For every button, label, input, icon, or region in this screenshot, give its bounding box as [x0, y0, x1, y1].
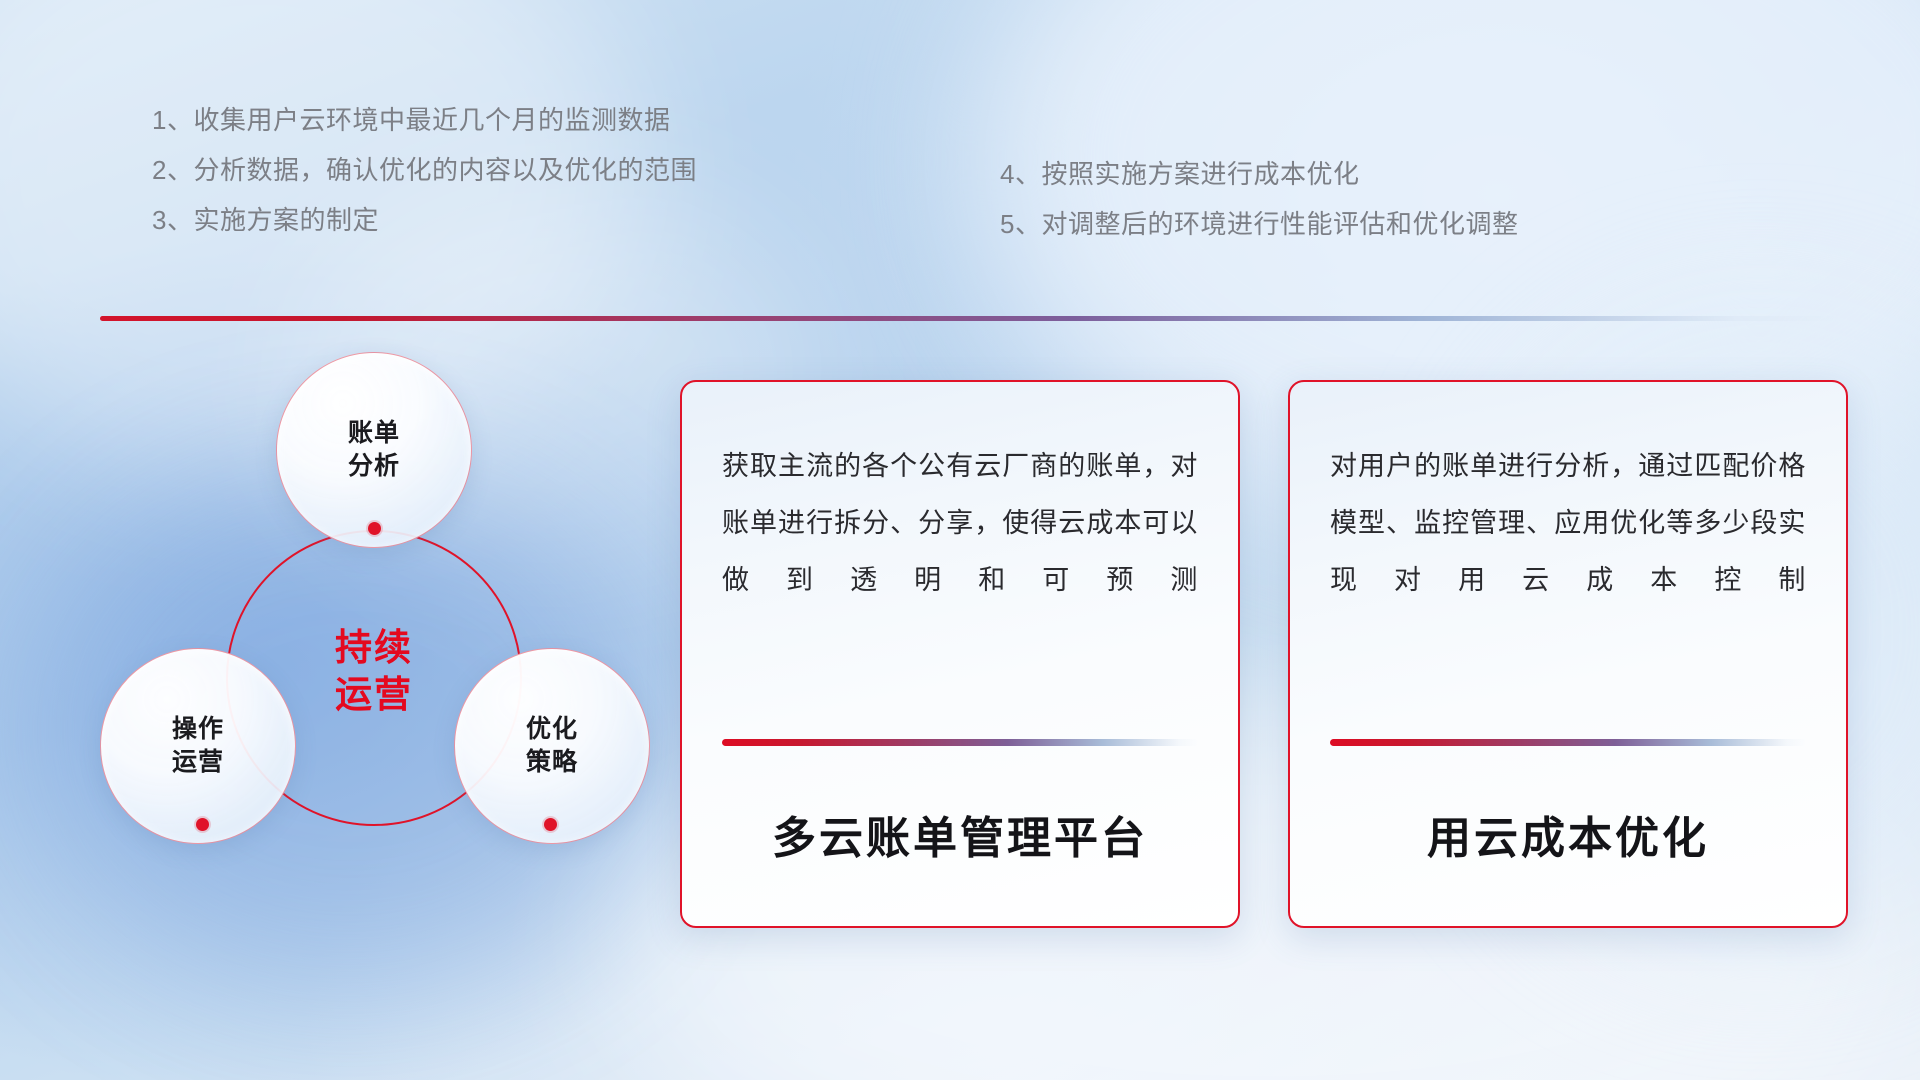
feature-card-1-title: 多云账单管理平台: [722, 802, 1198, 866]
step-item-2: 2、分析数据，确认优化的内容以及优化的范围: [152, 146, 697, 196]
section-divider: [100, 316, 1840, 321]
feature-card-cost-optimization[interactable]: 对用户的账单进行分析，通过匹配价格模型、监控管理、应用优化等多少段实现对用云成本…: [1288, 380, 1848, 928]
feature-card-1-body: 获取主流的各个公有云厂商的账单，对账单进行拆分、分享，使得云成本可以做到透明和可…: [722, 438, 1198, 688]
bubble-optimization-strategy[interactable]: 优化 策略: [454, 648, 650, 844]
feature-card-multicloud-billing[interactable]: 获取主流的各个公有云厂商的账单，对账单进行拆分、分享，使得云成本可以做到透明和可…: [680, 380, 1240, 928]
feature-card-2-rule: [1330, 739, 1806, 746]
diagram-center-label-line2: 运营: [284, 671, 464, 718]
step-item-3: 3、实施方案的制定: [152, 196, 697, 246]
feature-card-2-title: 用云成本优化: [1330, 802, 1806, 866]
feature-card-2-body: 对用户的账单进行分析，通过匹配价格模型、监控管理、应用优化等多少段实现对用云成本…: [1330, 438, 1806, 688]
bubble-bill-analysis[interactable]: 账单 分析: [276, 352, 472, 548]
node-dot-right-icon: [544, 818, 557, 831]
steps-left-column: 1、收集用户云环境中最近几个月的监测数据 2、分析数据，确认优化的内容以及优化的…: [152, 96, 697, 246]
continuous-operation-diagram: 账单 分析 操作 运营 优化 策略 持续 运营: [96, 352, 636, 952]
steps-right-column: 4、按照实施方案进行成本优化 5、对调整后的环境进行性能评估和优化调整: [1000, 150, 1518, 250]
slide-canvas: 1、收集用户云环境中最近几个月的监测数据 2、分析数据，确认优化的内容以及优化的…: [0, 0, 1920, 1080]
bubble-operations-line2: 运营: [172, 746, 224, 779]
node-dot-top-icon: [368, 522, 381, 535]
bubble-optimization-strategy-line2: 策略: [526, 746, 578, 779]
bubble-bill-analysis-line1: 账单: [348, 417, 400, 450]
node-dot-left-icon: [196, 818, 209, 831]
bubble-bill-analysis-line2: 分析: [348, 450, 400, 483]
step-item-5: 5、对调整后的环境进行性能评估和优化调整: [1000, 200, 1518, 250]
bubble-optimization-strategy-line1: 优化: [526, 713, 578, 746]
step-item-1: 1、收集用户云环境中最近几个月的监测数据: [152, 96, 697, 146]
feature-card-1-rule: [722, 739, 1198, 746]
diagram-center-label-line1: 持续: [284, 624, 464, 671]
step-item-4: 4、按照实施方案进行成本优化: [1000, 150, 1518, 200]
diagram-center-label: 持续 运营: [284, 624, 464, 719]
bubble-operations[interactable]: 操作 运营: [100, 648, 296, 844]
bubble-operations-line1: 操作: [172, 713, 224, 746]
